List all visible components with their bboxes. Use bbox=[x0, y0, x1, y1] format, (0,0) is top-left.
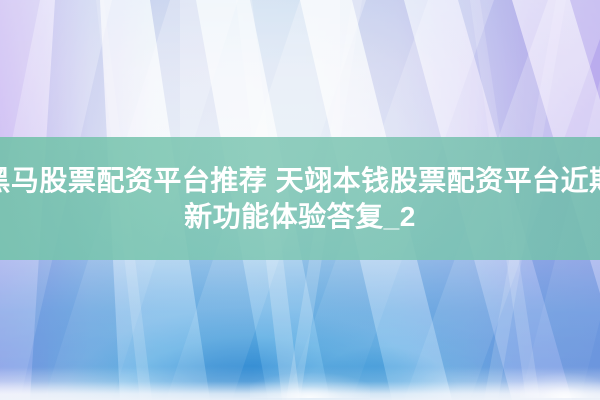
title-line-2: 新功能体验答复_2 bbox=[184, 199, 416, 235]
promo-banner: 黑马股票配资平台推荐 天翊本钱股票配资平台近期 新功能体验答复_2 bbox=[0, 0, 600, 400]
title-band: 黑马股票配资平台推荐 天翊本钱股票配资平台近期 新功能体验答复_2 bbox=[0, 137, 600, 260]
title-line-1: 黑马股票配资平台推荐 天翊本钱股票配资平台近期 bbox=[0, 163, 600, 199]
